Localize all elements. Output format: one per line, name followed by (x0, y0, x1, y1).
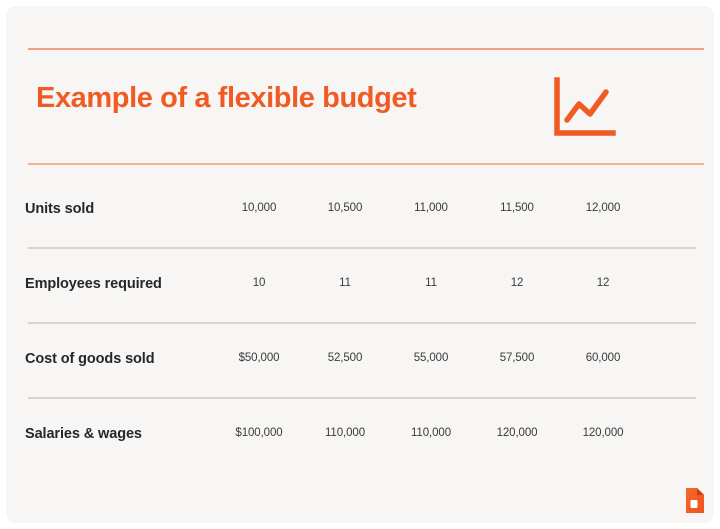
row-values: 10 11 11 12 12 (216, 277, 686, 289)
header-top-rule (28, 48, 704, 50)
table-cell: 11 (302, 277, 388, 289)
table-cell: 120,000 (560, 427, 646, 439)
table-row: Salaries & wages $100,000 110,000 110,00… (6, 399, 714, 474)
row-label-salaries-and-wages: Salaries & wages (25, 426, 142, 442)
table-cell: $100,000 (216, 427, 302, 439)
table-cell: 52,500 (302, 352, 388, 364)
page-title: Example of a flexible budget (36, 82, 416, 115)
table-row: Units sold 10,000 10,500 11,000 11,500 1… (6, 174, 714, 249)
b-logo (683, 487, 707, 515)
table-cell: 120,000 (474, 427, 560, 439)
table-cell: 11,000 (388, 202, 474, 214)
row-values: $100,000 110,000 110,000 120,000 120,000 (216, 427, 686, 439)
table-cell: 11 (388, 277, 474, 289)
table-cell: 60,000 (560, 352, 646, 364)
screenshot-canvas: Example of a flexible budget Units sold … (0, 0, 720, 529)
table-cell: 12,000 (560, 202, 646, 214)
row-label-units-sold: Units sold (25, 201, 94, 217)
table-cell: 12 (560, 277, 646, 289)
table-cell: 10,000 (216, 202, 302, 214)
table-cell: $50,000 (216, 352, 302, 364)
table-row: Employees required 10 11 11 12 12 (6, 249, 714, 324)
table-cell: 11,500 (474, 202, 560, 214)
table-cell: 110,000 (388, 427, 474, 439)
row-values: 10,000 10,500 11,000 11,500 12,000 (216, 202, 686, 214)
row-values: $50,000 52,500 55,000 57,500 60,000 (216, 352, 686, 364)
table-row: Cost of goods sold $50,000 52,500 55,000… (6, 324, 714, 399)
row-label-cost-of-goods-sold: Cost of goods sold (25, 351, 155, 367)
table-cell: 110,000 (302, 427, 388, 439)
line-chart-icon (551, 77, 619, 139)
row-label-employees-required: Employees required (25, 276, 162, 292)
table-cell: 55,000 (388, 352, 474, 364)
budget-table: Units sold 10,000 10,500 11,000 11,500 1… (6, 174, 714, 474)
table-cell: 12 (474, 277, 560, 289)
budget-card: Example of a flexible budget Units sold … (6, 6, 714, 523)
header-bottom-rule (28, 163, 704, 165)
table-cell: 10 (216, 277, 302, 289)
table-cell: 57,500 (474, 352, 560, 364)
table-cell: 10,500 (302, 202, 388, 214)
